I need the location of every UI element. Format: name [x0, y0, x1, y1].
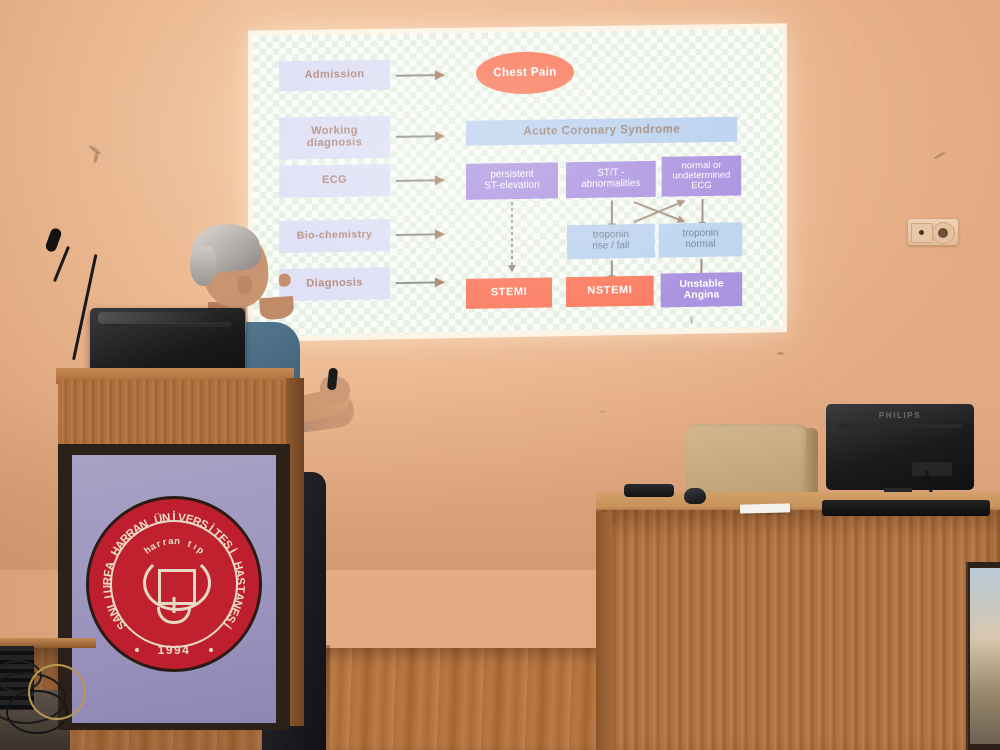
socket-outlet-icon[interactable]: [932, 222, 955, 244]
connector-normal-ecg-to-troponin-normal: [701, 199, 703, 223]
connector-stt-to-troponin-rise: [611, 200, 613, 224]
arrow-ecg: [396, 179, 444, 182]
presenter-nose: [278, 273, 291, 287]
connector-troponin-rise-to-nstemi: [611, 260, 613, 276]
node-normal-or-undetermined-ecg: normal or undetermined ECG: [662, 156, 742, 197]
node-persistent-st-elevation: persistent ST-elevation: [466, 162, 558, 199]
node-line: ECG: [691, 181, 711, 192]
wall-picture-image: [970, 568, 1000, 744]
node-stemi: STEMI: [466, 277, 552, 308]
arrow-admission: [396, 74, 444, 77]
presenter-ear: [236, 275, 252, 295]
wall-scuff-mark: [933, 151, 946, 160]
node-troponin-rise-fall: troponin rise / fall: [567, 224, 655, 259]
connector-st-elevation-to-stemi: [511, 202, 513, 266]
monitor-ports: [912, 462, 952, 476]
logo-text-char: n: [174, 536, 181, 547]
logo-text-char: [181, 537, 186, 548]
desk-device[interactable]: [624, 484, 674, 497]
logo-emblem-icon: [139, 549, 209, 625]
wall-socket[interactable]: [908, 219, 958, 245]
cable-coil-gold: [28, 664, 86, 720]
logo-bowl-shape: [157, 607, 191, 624]
arrow-diagnosis: [396, 281, 444, 284]
office-chair[interactable]: [686, 424, 808, 496]
arrow-bio-chemistry: [396, 233, 444, 236]
presenter-chin: [259, 296, 294, 320]
arrow-working-diagnosis: [396, 135, 444, 138]
podium-wood-panel: [60, 380, 288, 444]
logo-text-char: r: [162, 537, 168, 549]
desk-paper-note[interactable]: [740, 503, 790, 513]
lecture-hall-scene: Admission Working diagnosis ECG Bio-chem…: [0, 0, 1000, 750]
stage-label-admission: Admission: [279, 60, 390, 92]
presenter-hair-side: [190, 246, 216, 286]
slide-cursor-artifact: [691, 317, 693, 324]
stage-label-line: diagnosis: [307, 137, 362, 150]
node-line: rise / fall: [592, 241, 629, 252]
socket-switch-icon[interactable]: [911, 223, 933, 243]
node-st-t-abnormalities: ST/T - abnormalities: [566, 161, 656, 198]
office-chair-side: [806, 428, 818, 496]
desk-monitor[interactable]: PHILIPS: [826, 404, 974, 490]
node-line: abnormalities: [581, 179, 640, 191]
hospital-logo: ŞANLIURFA HARRAN ÜNİVERSİTESİ HASTANESİ …: [86, 496, 262, 672]
hospital-banner: ŞANLIURFA HARRAN ÜNİVERSİTESİ HASTANESİ …: [72, 455, 276, 723]
logo-square-shape: [158, 569, 196, 605]
logo-year: 1994: [158, 643, 191, 657]
node-line: Angina: [684, 290, 719, 302]
node-line: ST-elevation: [484, 181, 540, 193]
monitor-brand-label: PHILIPS: [826, 411, 974, 420]
node-troponin-normal: troponin normal: [659, 222, 743, 257]
computer-keyboard[interactable]: [822, 500, 990, 516]
stage-label-ecg: ECG: [279, 164, 390, 198]
podium-monitor-glint: [98, 312, 218, 324]
desk-left-panel: [596, 512, 612, 750]
node-unstable-angina: Unstable Angina: [661, 272, 743, 307]
wall-scuff-mark: [600, 410, 605, 413]
stage-label-working-diagnosis: Working diagnosis: [279, 116, 390, 160]
logo-dot: [209, 648, 213, 652]
node-acute-coronary-syndrome: Acute Coronary Syndrome: [466, 117, 737, 146]
node-nstemi: NSTEMI: [566, 276, 654, 307]
computer-mouse[interactable]: [684, 488, 706, 504]
logo-dot: [135, 648, 139, 652]
node-line: normal: [685, 240, 715, 251]
desk-front-panel: [596, 510, 1000, 750]
wall-scuff-mark: [777, 352, 784, 355]
node-chest-pain: Chest Pain: [476, 51, 574, 94]
